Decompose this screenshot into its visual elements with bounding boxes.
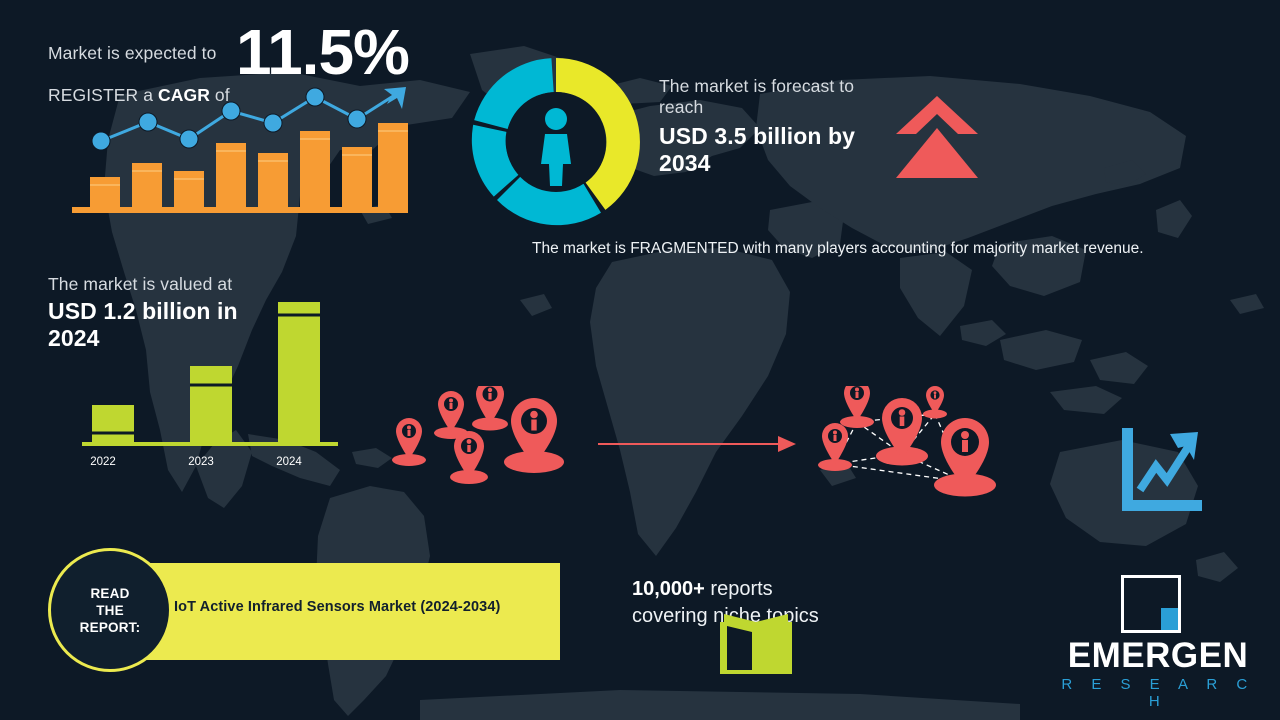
read-the-report-badge[interactable]: READ THE REPORT: — [48, 548, 172, 672]
trend-arrowhead — [384, 87, 406, 109]
growth-bar-line-chart — [68, 85, 413, 220]
valuation-bar-chart — [82, 292, 342, 450]
cagr-value: 11.5% — [236, 20, 409, 84]
chart-baseline — [72, 207, 408, 213]
bar-2024 — [278, 302, 320, 442]
logo-square-accent — [1161, 608, 1178, 630]
year-label-2024: 2024 — [258, 456, 320, 468]
double-chevron-up-icon — [896, 96, 978, 178]
market-share-donut-chart — [466, 52, 646, 232]
forecast-value: USD 3.5 billion by 2034 — [659, 123, 889, 177]
year-label-2022: 2022 — [72, 456, 134, 468]
fragmentation-text: The market is FRAGMENTED with many playe… — [532, 238, 1222, 260]
logo-subtitle: R E S E A R C H — [1058, 676, 1258, 710]
cagr-label-line1: Market is expected to — [48, 43, 216, 63]
logo-name: EMERGEN — [1058, 637, 1258, 675]
forecast-label: The market is forecast to reach — [659, 76, 899, 118]
emergen-research-logo: EMERGEN R E S E A R C H — [1058, 575, 1258, 700]
read-the-report-label: READ THE REPORT: — [80, 585, 141, 636]
map-pin-network-icon — [802, 386, 1022, 506]
growth-chart-icon — [1122, 428, 1202, 514]
bar-2023 — [190, 366, 232, 442]
infographic-canvas: Market is expected to REGISTER a CAGR of… — [0, 0, 1280, 720]
valuation-baseline — [82, 442, 338, 446]
bars — [90, 123, 408, 207]
year-label-2023: 2023 — [170, 456, 232, 468]
bar-2022 — [92, 405, 134, 442]
reports-count: 10,000+ — [632, 578, 705, 600]
report-title[interactable]: IoT Active Infrared Sensors Market (2024… — [174, 599, 554, 615]
right-arrow-icon — [598, 434, 798, 454]
logo-square-icon — [1121, 575, 1181, 633]
open-book-icon — [718, 612, 794, 678]
map-pin-group-icon — [382, 386, 582, 496]
